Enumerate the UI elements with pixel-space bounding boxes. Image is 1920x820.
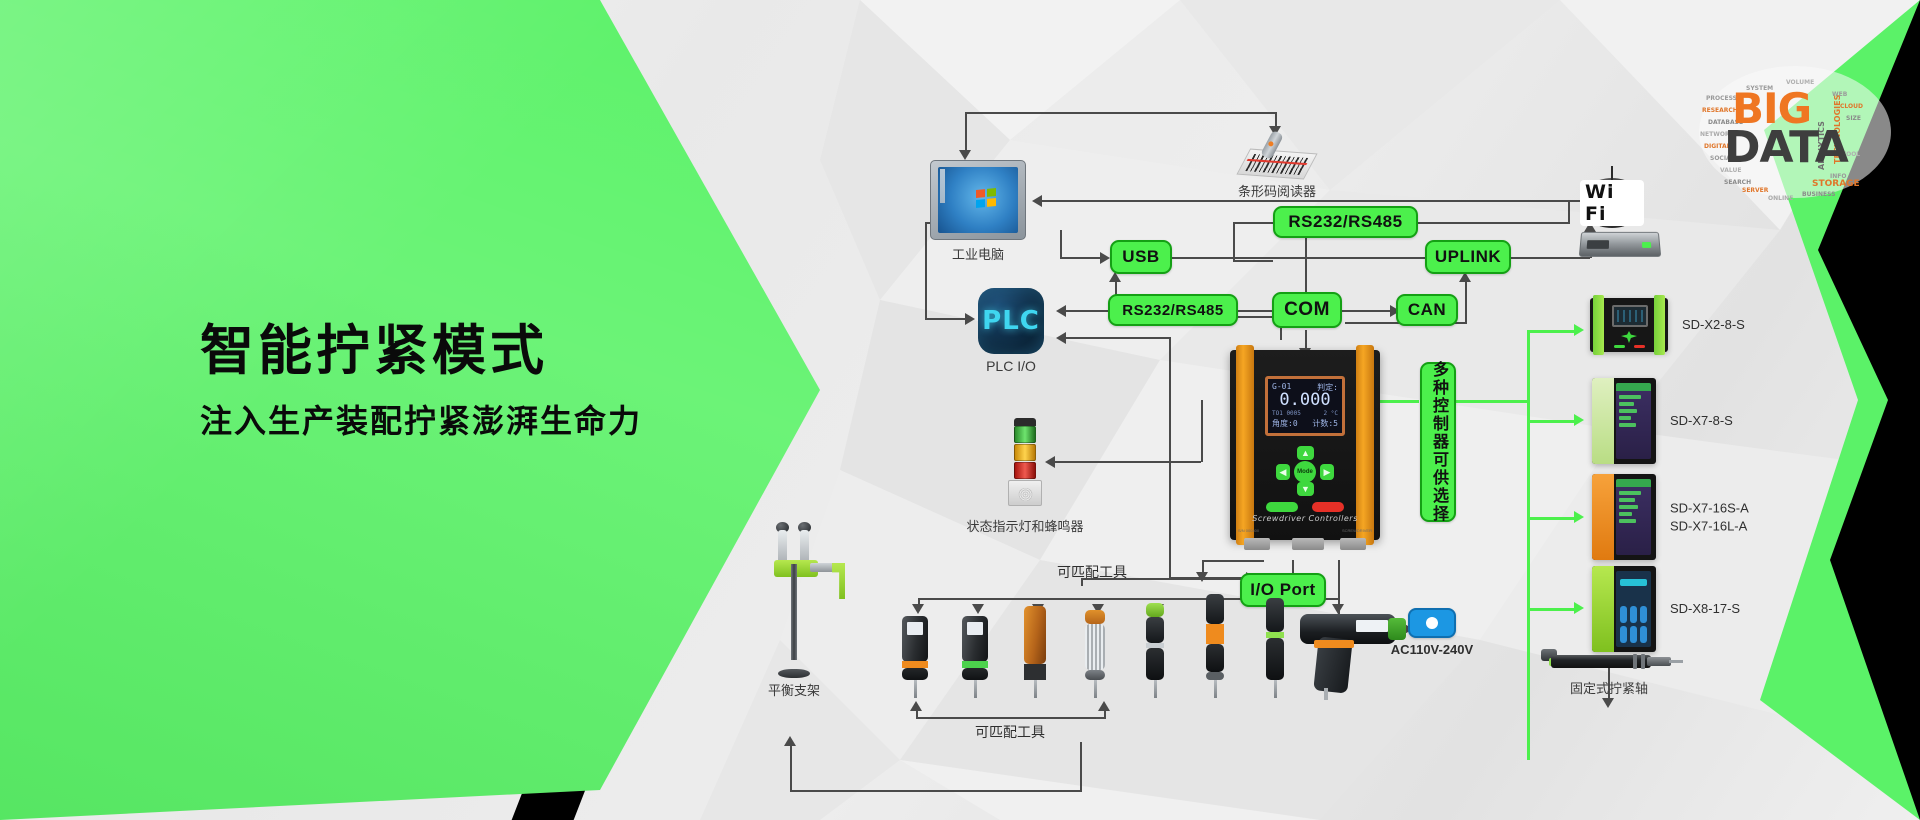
bigdata-word-data: DATA <box>1724 122 1848 173</box>
tools-label-bottom: 可匹配工具 <box>975 722 1045 742</box>
node-wifi[interactable]: Wi Fi <box>1580 178 1660 257</box>
power-indicator-dot <box>1426 617 1438 629</box>
dpad-up-button[interactable]: ▲ <box>1297 446 1314 460</box>
wifi-icon: Wi Fi <box>1580 178 1644 228</box>
industrial-pc-label: 工业电脑 <box>930 244 1026 263</box>
dpad-right-button[interactable]: ▶ <box>1320 464 1334 480</box>
svg-text:SERVER: SERVER <box>1742 187 1769 194</box>
node-main-controller[interactable]: G-01 判定: 0.000 TO1 0005 2 °C 角度:0 计数:5 ▲ <box>1230 350 1380 540</box>
connector-line <box>1465 300 1467 322</box>
green-connector-arrow <box>1574 324 1584 336</box>
connector-line <box>1053 461 1201 463</box>
connector-arrow <box>784 736 796 746</box>
badge-label: RS232/RS485 <box>1288 212 1402 232</box>
badge-label: COM <box>1284 299 1330 321</box>
dpad-left-button[interactable]: ◀ <box>1276 464 1290 480</box>
connector-arrow <box>910 701 922 711</box>
screwdriver-tool-icon <box>1085 610 1105 698</box>
lcd-temp: 2 °C <box>1324 410 1338 417</box>
server-icon <box>1579 232 1661 257</box>
connector-arrow <box>1602 698 1614 708</box>
node-controller-model-3[interactable]: SD-X7-16S-A SD-X7-16L-A <box>1592 474 1656 560</box>
svg-text:STORAGE: STORAGE <box>1812 179 1860 189</box>
mode-button[interactable]: Mode <box>1294 461 1316 483</box>
plc-icon: PLC <box>978 288 1044 354</box>
connector-line <box>1201 400 1203 462</box>
wifi-label: Wi Fi <box>1580 180 1644 226</box>
screwdriver-tool-icon <box>1146 603 1164 698</box>
connector-line <box>916 717 1106 719</box>
connector-line <box>1233 222 1273 224</box>
green-connector-line <box>1455 400 1527 403</box>
connector-arrow <box>1045 456 1055 468</box>
fixed-spindle-label: 固定式拧紧轴 <box>1529 678 1689 697</box>
controller-model-2-label: SD-X7-8-S <box>1670 412 1733 430</box>
node-controller-model-1[interactable]: SD-X2-8-S <box>1590 298 1668 352</box>
connector-line <box>1340 310 1395 312</box>
controller-serial: S/N 000400 <box>1238 528 1259 533</box>
badge-can[interactable]: CAN <box>1396 294 1458 326</box>
green-connector-line <box>1527 420 1579 423</box>
badge-uplink[interactable]: UPLINK <box>1425 240 1511 274</box>
headline-block: 智能拧紧模式 注入生产装配拧紧澎湃生命力 <box>200 322 642 442</box>
connector-line <box>1568 200 1570 224</box>
connector-arrow <box>1100 252 1110 264</box>
screwdriver-tool-icon <box>1206 594 1224 698</box>
screwdriver-tool-icon <box>1024 606 1046 698</box>
badge-multi-controller[interactable]: 多种控制器可供选择 <box>1420 362 1456 522</box>
node-tool-4[interactable] <box>1078 616 1112 698</box>
monitor-icon <box>930 160 1026 240</box>
node-controller-model-4[interactable]: SD-X8-17-S <box>1592 566 1656 652</box>
connector-line <box>1064 310 1109 312</box>
connector-line <box>965 112 1275 114</box>
badge-label: I/O Port <box>1250 580 1315 600</box>
connector-arrow <box>1098 701 1110 711</box>
plc-icon-text: PLC <box>982 306 1040 336</box>
controller-model-3-label-line1: SD-X7-16S-A <box>1670 499 1749 517</box>
word-cloud-icon: PROCESS RESEARCH DATABASE NETWORK DIGITA… <box>1690 60 1900 210</box>
controller-model-4-label: SD-X8-17-S <box>1670 600 1740 618</box>
green-connector-line <box>1527 330 1579 333</box>
controller-ports <box>1230 538 1380 552</box>
controller-model-3-label: SD-X7-16S-A SD-X7-16L-A <box>1670 499 1749 534</box>
badge-rs232-rs485-left[interactable]: RS232/RS485 <box>1108 294 1238 326</box>
badge-label: UPLINK <box>1435 247 1501 267</box>
barcode-reader-icon <box>1238 135 1316 177</box>
connector-line <box>1202 560 1264 562</box>
connector-line <box>1233 260 1273 262</box>
controller-unit-sd-x7-16-a <box>1592 474 1656 560</box>
controller-model-text: SCREWDRIVER <box>1342 528 1372 533</box>
tower-light-label: 状态指示灯和蜂鸣器 <box>930 516 1120 535</box>
connector-arrow <box>959 150 971 160</box>
node-balance-arm[interactable]: 平衡支架 <box>760 530 856 680</box>
green-connector-arrow <box>1574 511 1584 523</box>
badge-rs232-rs485-top[interactable]: RS232/RS485 <box>1273 206 1418 238</box>
controller-footer: S/N 000400 SCREWDRIVER <box>1238 528 1372 533</box>
connector-line <box>1060 230 1062 258</box>
connector-line <box>1060 257 1105 259</box>
node-tool-6[interactable] <box>1198 606 1232 698</box>
green-connector-line <box>1527 608 1579 611</box>
connector-arrow <box>965 313 975 325</box>
page-subtitle: 注入生产装配拧紧澎湃生命力 <box>200 396 642 442</box>
connector-line <box>925 318 970 320</box>
badge-label: CAN <box>1408 300 1446 320</box>
pistol-screwdriver-icon <box>1300 612 1408 696</box>
controller-model-3-label-line2: SD-X7-16L-A <box>1670 517 1749 535</box>
windows-logo-icon <box>976 188 996 208</box>
screwdriver-tool-icon <box>962 616 988 698</box>
badge-label: 多种控制器可供选择 <box>1426 361 1450 523</box>
connector-line <box>1064 337 1169 339</box>
green-connector-arrow <box>1574 602 1584 614</box>
node-industrial-pc[interactable]: 工业电脑 <box>930 160 1026 240</box>
connector-line <box>790 742 792 792</box>
node-fixed-spindle[interactable]: 固定式拧紧轴 <box>1535 648 1685 674</box>
node-tower-light[interactable]: 状态指示灯和蜂鸣器 <box>1014 418 1036 506</box>
node-tool-3[interactable] <box>1018 614 1052 698</box>
controller-button-row <box>1266 502 1344 512</box>
tools-label-top: 可匹配工具 <box>1057 562 1127 582</box>
screwdriver-controller-device: G-01 判定: 0.000 TO1 0005 2 °C 角度:0 计数:5 ▲ <box>1230 350 1380 540</box>
badge-label: USB <box>1122 247 1159 267</box>
svg-text:ONLINE: ONLINE <box>1768 195 1793 202</box>
spindle-icon <box>1535 648 1685 674</box>
controller-dpad[interactable]: ▲ ▼ ◀ ▶ Mode <box>1276 446 1334 496</box>
badge-com[interactable]: COM <box>1272 292 1342 328</box>
controller-unit-sd-x8-17-s <box>1592 566 1656 652</box>
return-button[interactable] <box>1266 502 1298 512</box>
svg-text:BUSINESS: BUSINESS <box>1802 191 1836 198</box>
connector-line <box>1233 222 1235 262</box>
connector-line <box>1169 337 1171 577</box>
connector-line <box>790 790 1080 792</box>
controller-brand-text: Screwdriver Controllers <box>1230 514 1380 523</box>
connector-line <box>925 222 927 320</box>
balance-arm-icon <box>760 530 856 680</box>
connector-arrow <box>1056 305 1066 317</box>
controller-lcd-screen: G-01 判定: 0.000 TO1 0005 2 °C 角度:0 计数:5 <box>1265 376 1345 436</box>
node-plc[interactable]: PLC PLC I/O <box>978 288 1044 354</box>
onoff-button[interactable] <box>1312 502 1344 512</box>
node-bigdata: PROCESS RESEARCH DATABASE NETWORK DIGITA… <box>1690 60 1900 210</box>
connector-arrow <box>1056 332 1066 344</box>
lcd-tool-id: TO1 0005 <box>1272 410 1301 417</box>
badge-power[interactable] <box>1408 608 1456 638</box>
connector-line <box>1040 200 1610 202</box>
lcd-torque-value: 0.000 <box>1272 392 1338 410</box>
node-tool-5[interactable] <box>1138 610 1172 698</box>
badge-label: RS232/RS485 <box>1122 302 1223 319</box>
node-tool-2[interactable] <box>958 618 992 698</box>
controller-unit-sd-x7-8-s <box>1592 378 1656 464</box>
banner-root: 智能拧紧模式 注入生产装配拧紧澎湃生命力 <box>0 0 1920 820</box>
tool-arrow <box>972 604 984 614</box>
connector-line <box>1510 257 1590 259</box>
monitor-screen <box>938 167 1018 233</box>
screwdriver-tool-icon <box>1266 598 1284 698</box>
badge-usb[interactable]: USB <box>1110 240 1172 274</box>
node-controller-model-2[interactable]: SD-X7-8-S <box>1592 378 1656 464</box>
connector-arrow <box>1196 572 1208 582</box>
plc-label: PLC I/O <box>966 358 1056 374</box>
controller-model-1-label: SD-X2-8-S <box>1682 316 1745 334</box>
green-connector-line <box>1527 517 1579 520</box>
lcd-angle: 角度:0 <box>1272 418 1298 429</box>
tower-light-icon <box>1014 418 1036 506</box>
barcode-reader-label: 条形码阅读器 <box>1222 181 1332 200</box>
controller-unit-sd-x2-8-s <box>1590 298 1668 352</box>
svg-text:SIZE: SIZE <box>1846 115 1861 122</box>
node-tool-1[interactable] <box>898 618 932 698</box>
node-tool-7[interactable] <box>1258 606 1292 698</box>
dpad-down-button[interactable]: ▼ <box>1297 482 1314 496</box>
page-title: 智能拧紧模式 <box>200 322 642 380</box>
connector-arrow <box>1032 195 1042 207</box>
lcd-count: 计数:5 <box>1312 418 1338 429</box>
svg-text:SEARCH: SEARCH <box>1724 179 1751 186</box>
screwdriver-tool-icon <box>902 616 928 698</box>
svg-text:CLOUD: CLOUD <box>1840 103 1863 110</box>
connector-line <box>1080 742 1082 792</box>
green-connector-arrow <box>1574 414 1584 426</box>
connector-line <box>965 112 967 154</box>
balance-arm-label: 平衡支架 <box>734 680 854 699</box>
tool-arrow <box>912 604 924 614</box>
node-barcode-reader[interactable]: 条形码阅读器 <box>1238 135 1316 177</box>
